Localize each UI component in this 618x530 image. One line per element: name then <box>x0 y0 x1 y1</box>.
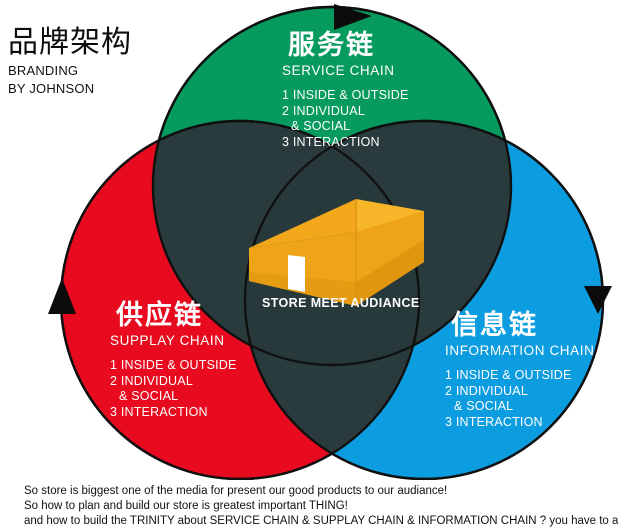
brand-architecture-diagram: 品牌架构 BRANDING BY JOHNSON <box>0 0 618 529</box>
footer-caption: So store is biggest one of the media for… <box>24 484 618 530</box>
page-title-cn: 品牌架构 <box>8 26 132 60</box>
footer-line-3: and how to build the TRINITY about SERVI… <box>24 514 618 529</box>
footer-line-2: So how to plan and build our store is gr… <box>24 499 618 514</box>
page-subtitle-author: BY JOHNSON <box>8 81 132 96</box>
footer-line-1: So store is biggest one of the media for… <box>24 484 618 499</box>
page-subtitle-branding: BRANDING <box>8 63 132 78</box>
title-block: 品牌架构 BRANDING BY JOHNSON <box>8 26 132 96</box>
store-door-icon <box>288 255 305 292</box>
